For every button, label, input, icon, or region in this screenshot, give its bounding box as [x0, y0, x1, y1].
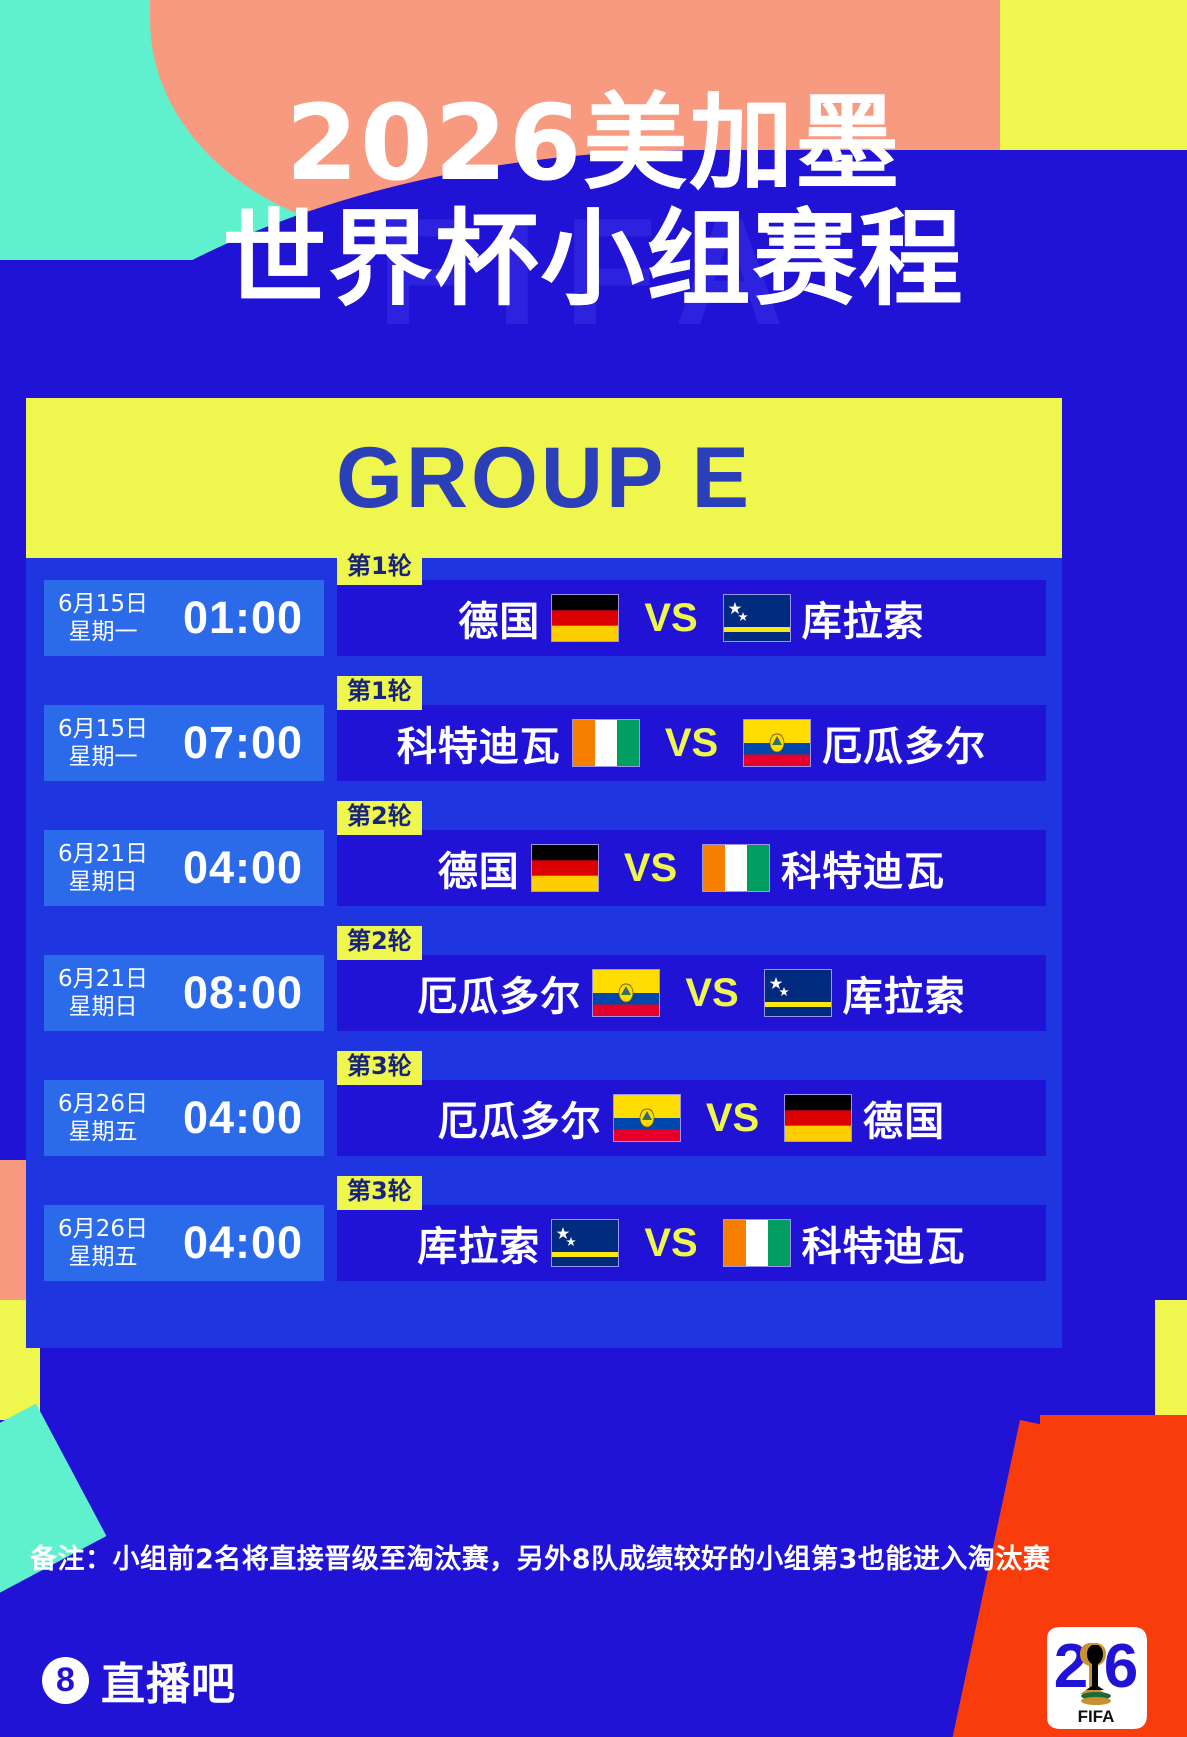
fifa-26-logo: 2 6 FIFA	[1037, 1625, 1155, 1733]
match-row[interactable]: 第3轮6月26日星期五04:00库拉索VS科特迪瓦	[44, 1205, 1046, 1281]
poster-root: FIFA 2026美加墨 世界杯小组赛程 GROUP E 第1轮6月15日星期一…	[0, 0, 1187, 1737]
fifa-wordmark: FIFA	[1078, 1707, 1115, 1726]
vs-label: VS	[685, 971, 738, 1016]
curacao-flag	[724, 595, 790, 641]
match-date: 6月21日	[44, 840, 162, 868]
cote-divoire-flag	[573, 720, 639, 766]
brand-logo[interactable]: 8 直播吧	[42, 1648, 236, 1712]
match-date-block: 6月15日星期一	[44, 590, 162, 646]
match-date: 6月26日	[44, 1090, 162, 1118]
group-label: GROUP E	[336, 429, 752, 528]
germany-flag	[532, 845, 598, 891]
ecuador-flag	[744, 720, 810, 766]
match-datetime: 6月26日星期五04:00	[44, 1080, 324, 1156]
away-team-name: 科特迪瓦	[802, 1214, 966, 1272]
svg-text:6: 6	[1104, 1632, 1138, 1701]
vs-label: VS	[706, 1096, 759, 1141]
curacao-flag	[552, 1220, 618, 1266]
match-weekday: 星期五	[44, 1243, 162, 1271]
match-time: 04:00	[162, 1217, 324, 1269]
vs-label: VS	[624, 846, 677, 891]
ecuador-flag	[614, 1095, 680, 1141]
eight-icon: 8	[42, 1657, 89, 1704]
group-banner: GROUP E	[26, 398, 1062, 558]
match-weekday: 星期一	[44, 618, 162, 646]
cote-divoire-flag	[703, 845, 769, 891]
match-time: 04:00	[162, 1092, 324, 1144]
decor-yellow-right-strip	[1155, 1300, 1187, 1425]
match-teams: 德国VS科特迪瓦	[337, 830, 1046, 906]
brand-name: 直播吧	[101, 1648, 236, 1712]
match-time: 07:00	[162, 717, 324, 769]
match-row[interactable]: 第3轮6月26日星期五04:00厄瓜多尔VS德国	[44, 1080, 1046, 1156]
cote-divoire-flag	[724, 1220, 790, 1266]
vs-label: VS	[644, 596, 697, 641]
match-datetime: 6月15日星期一01:00	[44, 580, 324, 656]
curacao-flag	[765, 970, 831, 1016]
match-time: 04:00	[162, 842, 324, 894]
match-date: 6月26日	[44, 1215, 162, 1243]
home-team-name: 库拉索	[417, 1214, 540, 1272]
match-teams: 库拉索VS科特迪瓦	[337, 1205, 1046, 1281]
round-badge: 第2轮	[337, 926, 422, 960]
match-teams: 科特迪瓦VS厄瓜多尔	[337, 705, 1046, 781]
title-line-2: 世界杯小组赛程	[0, 201, 1187, 317]
match-date-block: 6月15日星期一	[44, 715, 162, 771]
away-team-name: 科特迪瓦	[781, 839, 945, 897]
match-date: 6月15日	[44, 590, 162, 618]
match-date: 6月15日	[44, 715, 162, 743]
match-time: 08:00	[162, 967, 324, 1019]
away-team-name: 库拉索	[843, 964, 966, 1022]
match-datetime: 6月21日星期日04:00	[44, 830, 324, 906]
home-team-name: 德国	[458, 589, 540, 647]
match-row[interactable]: 第1轮6月15日星期一07:00科特迪瓦VS厄瓜多尔	[44, 705, 1046, 781]
poster-title: 2026美加墨 世界杯小组赛程	[0, 85, 1187, 318]
match-date-block: 6月26日星期五	[44, 1090, 162, 1146]
away-team-name: 库拉索	[802, 589, 925, 647]
round-badge: 第3轮	[337, 1176, 422, 1210]
match-row[interactable]: 第2轮6月21日星期日08:00厄瓜多尔VS库拉索	[44, 955, 1046, 1031]
round-badge: 第1轮	[337, 551, 422, 585]
match-datetime: 6月21日星期日08:00	[44, 955, 324, 1031]
match-date-block: 6月21日星期日	[44, 840, 162, 896]
match-row[interactable]: 第2轮6月21日星期日04:00德国VS科特迪瓦	[44, 830, 1046, 906]
match-date-block: 6月21日星期日	[44, 965, 162, 1021]
match-time: 01:00	[162, 592, 324, 644]
title-line-1: 2026美加墨	[0, 85, 1187, 201]
home-team-name: 厄瓜多尔	[417, 964, 581, 1022]
vs-label: VS	[665, 721, 718, 766]
vs-label: VS	[644, 1221, 697, 1266]
match-weekday: 星期五	[44, 1118, 162, 1146]
round-badge: 第1轮	[337, 676, 422, 710]
away-team-name: 德国	[863, 1089, 945, 1147]
match-row[interactable]: 第1轮6月15日星期一01:00德国VS库拉索	[44, 580, 1046, 656]
round-badge: 第2轮	[337, 801, 422, 835]
home-team-name: 德国	[438, 839, 520, 897]
home-team-name: 科特迪瓦	[397, 714, 561, 772]
match-date: 6月21日	[44, 965, 162, 993]
away-team-name: 厄瓜多尔	[822, 714, 986, 772]
match-teams: 厄瓜多尔VS德国	[337, 1080, 1046, 1156]
match-datetime: 6月15日星期一07:00	[44, 705, 324, 781]
match-weekday: 星期日	[44, 993, 162, 1021]
germany-flag	[785, 1095, 851, 1141]
home-team-name: 厄瓜多尔	[438, 1089, 602, 1147]
match-weekday: 星期一	[44, 743, 162, 771]
germany-flag	[552, 595, 618, 641]
match-teams: 德国VS库拉索	[337, 580, 1046, 656]
svg-text:2: 2	[1054, 1632, 1088, 1701]
schedule-panel: 第1轮6月15日星期一01:00德国VS库拉索第1轮6月15日星期一07:00科…	[26, 558, 1062, 1348]
match-teams: 厄瓜多尔VS库拉索	[337, 955, 1046, 1031]
round-badge: 第3轮	[337, 1051, 422, 1085]
ecuador-flag	[593, 970, 659, 1016]
footer-note: 备注：小组前2名将直接晋级至淘汰赛，另外8队成绩较好的小组第3也能进入淘汰赛	[30, 1537, 1160, 1576]
match-datetime: 6月26日星期五04:00	[44, 1205, 324, 1281]
match-weekday: 星期日	[44, 868, 162, 896]
match-date-block: 6月26日星期五	[44, 1215, 162, 1271]
